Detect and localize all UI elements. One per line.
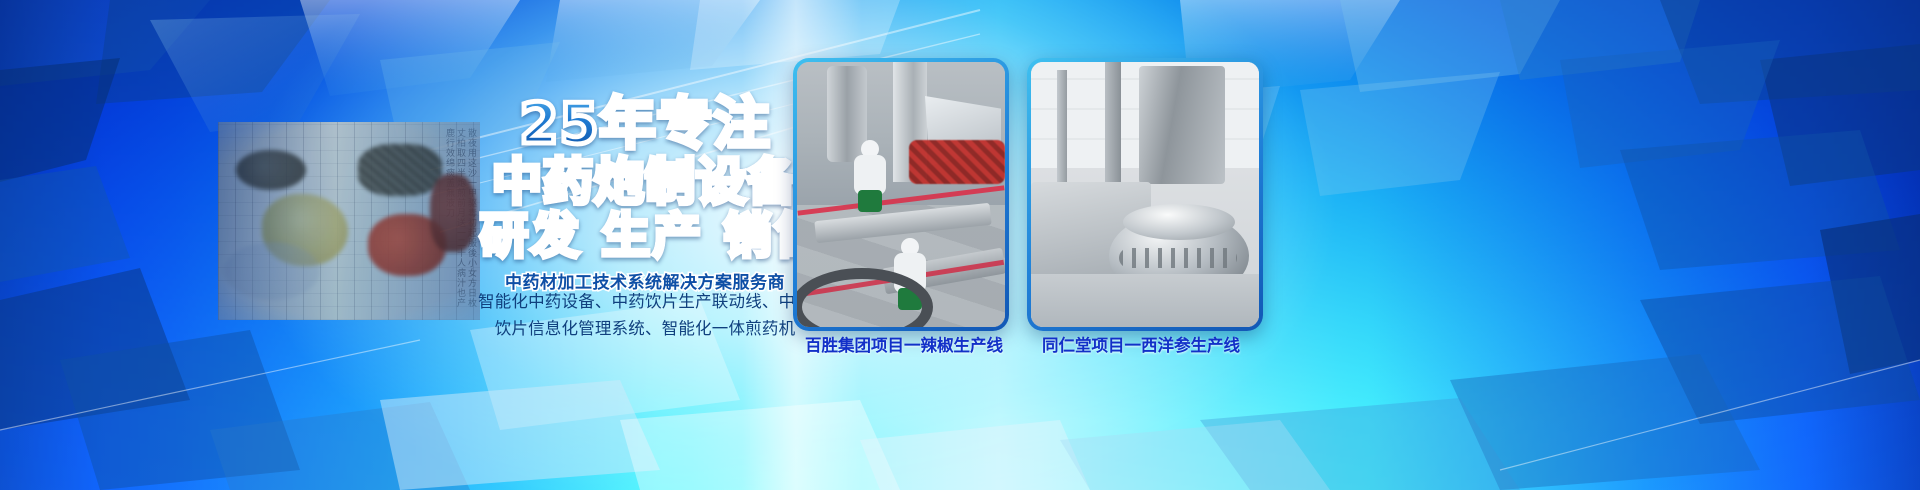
chili-production-line-photo xyxy=(797,62,1005,327)
photo-caption-chili: 百胜集团项目一辣椒生产线 xyxy=(800,332,1008,356)
tank-lid xyxy=(1123,204,1235,240)
promo-banner: 散夜用这沙一甲驱毒初起服後小女方日枚丈柏取四半炮煎前月送一二十人病汁也产鹿行效绵… xyxy=(0,0,1920,490)
headline-line-3: 研发 生产 销售 xyxy=(480,212,810,262)
worker-apron xyxy=(858,190,882,212)
headline-description: 智能化中药设备、中药饮片生产联动线、中药饮片信息化管理系统、智能化一体煎药机 xyxy=(470,288,820,342)
photo-caption-ginseng: 同仁堂项目一西洋参生产线 xyxy=(1025,332,1257,356)
herb-blue-tint xyxy=(218,122,480,320)
photo-card-ginseng[interactable] xyxy=(1027,58,1263,331)
chili-pile xyxy=(909,140,1005,184)
headline-block: 25年专注 中药炮制设备 研发 生产 销售 中药材加工技术系统解决方案服务商 xyxy=(480,96,810,293)
factory-floor xyxy=(1031,274,1259,327)
headline-line-2: 中药炮制设备 xyxy=(480,156,810,208)
processing-machine xyxy=(1139,66,1225,184)
photo-card-chili-frame xyxy=(797,62,1005,327)
herb-photo: 散夜用这沙一甲驱毒初起服後小女方日枚丈柏取四半炮煎前月送一二十人病汁也产鹿行效绵… xyxy=(218,122,480,320)
headline-line-1: 25年专注 xyxy=(480,96,810,154)
photo-card-chili[interactable] xyxy=(793,58,1009,331)
worker-coverall xyxy=(854,155,886,195)
worker-upper xyxy=(853,140,887,210)
ginseng-production-line-photo xyxy=(1031,62,1259,327)
photo-card-ginseng-frame xyxy=(1031,62,1259,327)
tank-bolt-ring xyxy=(1119,248,1237,268)
